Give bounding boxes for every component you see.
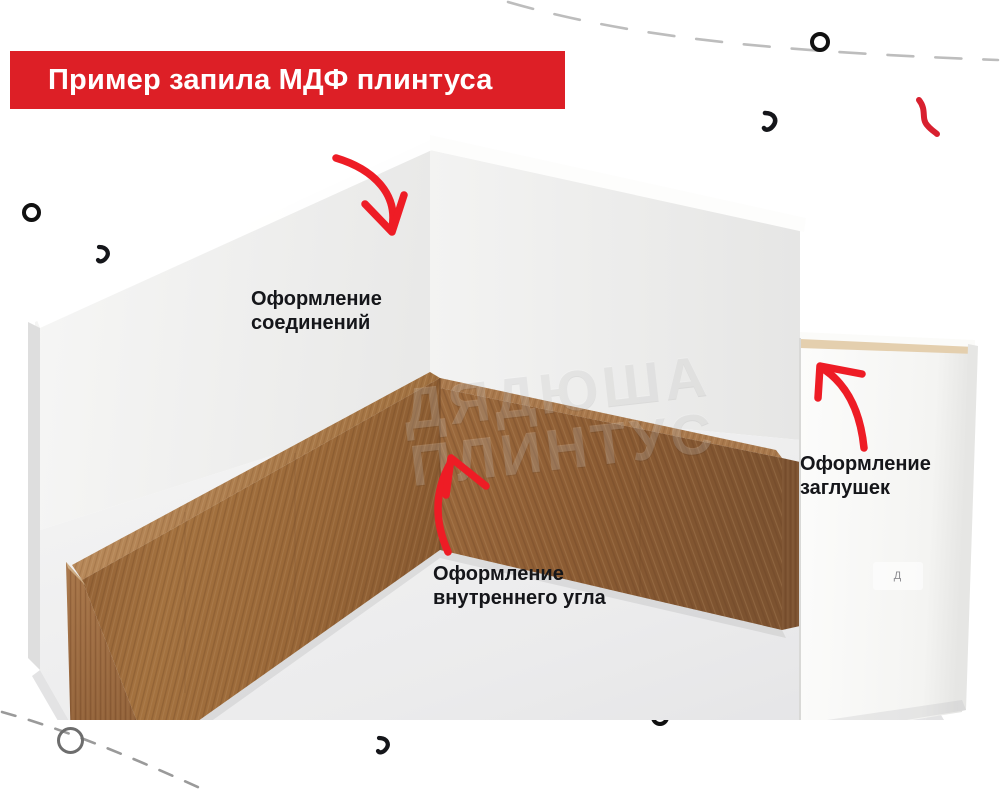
infographic-canvas: ДЯДЮША ПЛИНТУС Д Оформление соединений О… bbox=[0, 0, 1000, 800]
annotation-label-end-caps: Оформление заглушек bbox=[800, 452, 931, 501]
header-banner: Пример запила МДФ плинтуса bbox=[10, 51, 565, 109]
arrow-end-caps bbox=[818, 366, 864, 448]
arrow-inner-corner bbox=[438, 458, 486, 552]
header-banner-title: Пример запила МДФ плинтуса bbox=[10, 64, 493, 97]
annotation-arrows bbox=[0, 0, 1000, 800]
annotation-label-inner-corner: Оформление внутреннего угла bbox=[433, 562, 606, 611]
annotation-label-joints: Оформление соединений bbox=[251, 287, 382, 336]
arrow-joints bbox=[336, 158, 404, 232]
